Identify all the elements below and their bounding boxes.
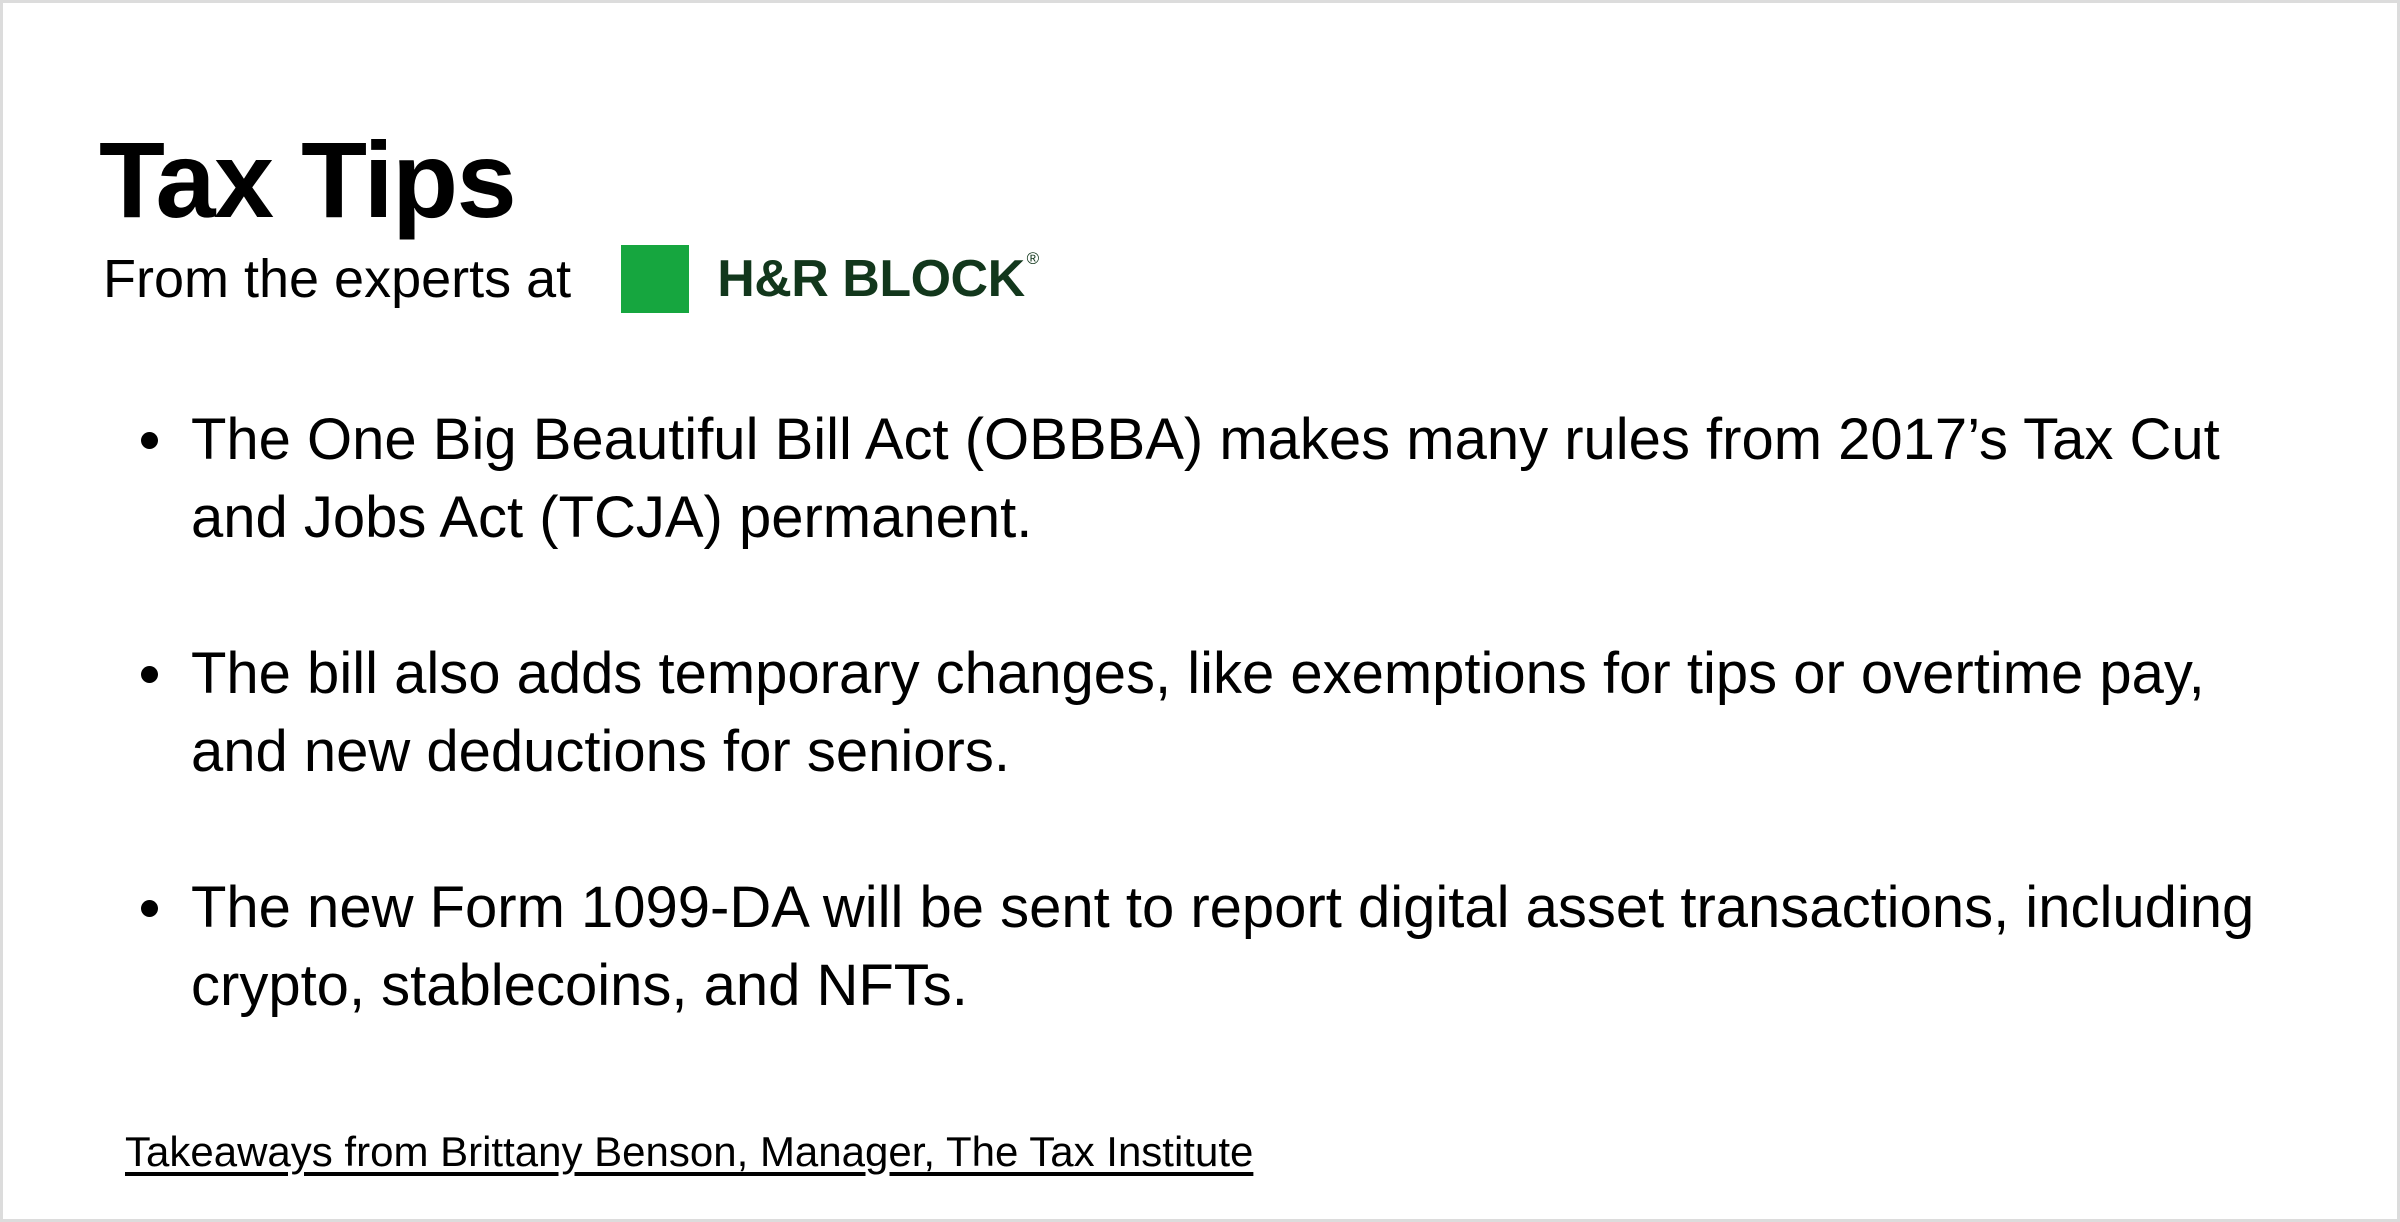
list-item: The One Big Beautiful Bill Act (OBBBA) m… (133, 401, 2333, 557)
page-title: Tax Tips (99, 123, 515, 236)
attribution-link[interactable]: Takeaways from Brittany Benson, Manager,… (125, 1131, 1253, 1173)
green-square-icon (621, 245, 689, 313)
bullet-dot-icon (141, 900, 158, 917)
bullet-dot-icon (141, 432, 158, 449)
bullet-dot-icon (141, 666, 158, 683)
bullet-list: The One Big Beautiful Bill Act (OBBBA) m… (133, 401, 2333, 1025)
list-item-text: The One Big Beautiful Bill Act (OBBBA) m… (191, 401, 2281, 557)
subtitle-row: From the experts at H&R BLOCK® (103, 243, 1037, 315)
list-item-text: The new Form 1099-DA will be sent to rep… (191, 869, 2281, 1025)
subtitle-text: From the experts at (103, 252, 571, 306)
list-item-text: The bill also adds temporary changes, li… (191, 635, 2281, 791)
list-item: The bill also adds temporary changes, li… (133, 635, 2333, 791)
hr-block-logo: H&R BLOCK® (621, 243, 1037, 315)
hr-block-wordmark-text: H&R BLOCK (717, 250, 1024, 308)
slide-canvas: Tax Tips From the experts at H&R BLOCK® … (0, 0, 2400, 1222)
hr-block-wordmark: H&R BLOCK® (717, 253, 1037, 305)
registered-trademark-icon: ® (1027, 249, 1039, 268)
list-item: The new Form 1099-DA will be sent to rep… (133, 869, 2333, 1025)
